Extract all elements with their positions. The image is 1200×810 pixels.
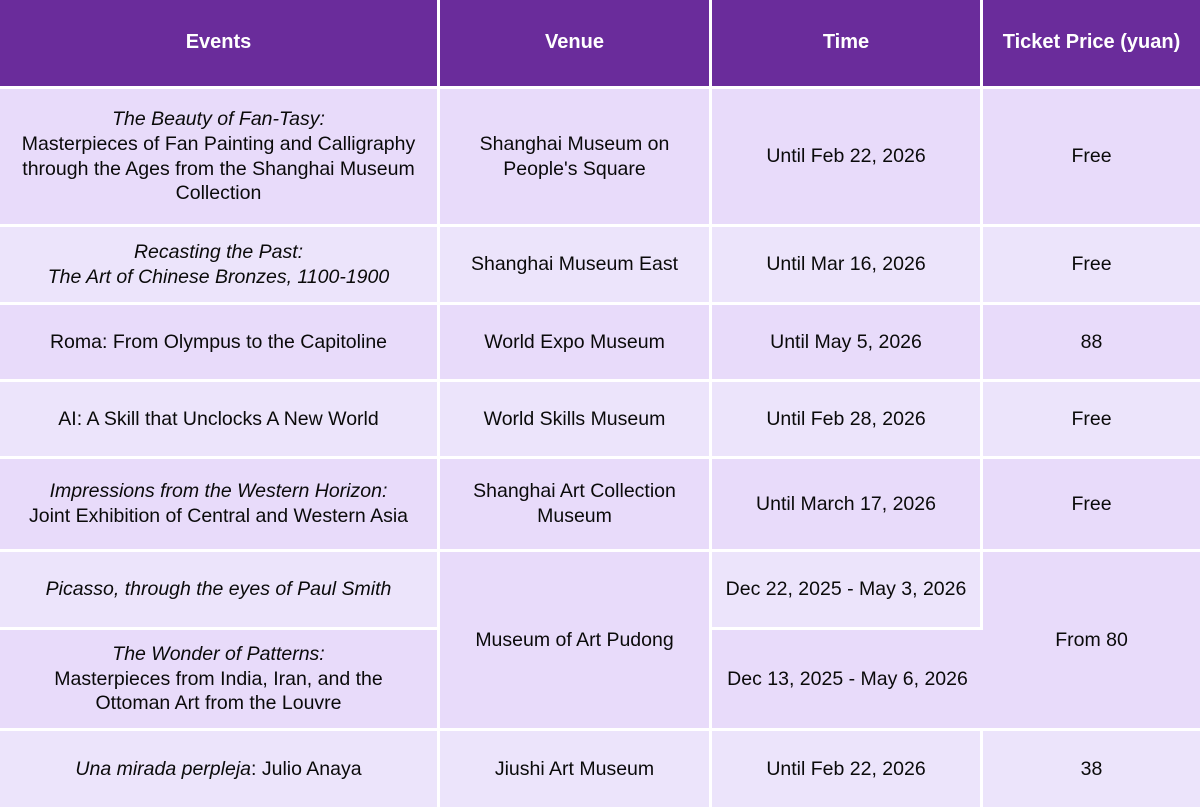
price-cell: 88 xyxy=(983,305,1200,382)
header-row: Events Venue Time Ticket Price (yuan) xyxy=(0,0,1200,89)
time-cell: Until May 5, 2026 xyxy=(712,305,983,382)
event-cell: The Beauty of Fan-Tasy: Masterpieces of … xyxy=(0,89,440,227)
venue-line: Shanghai Museum on xyxy=(450,132,699,157)
venue-cell: World Expo Museum xyxy=(440,305,712,382)
table-header: Events Venue Time Ticket Price (yuan) xyxy=(0,0,1200,89)
venue-line: Museum xyxy=(450,504,699,529)
column-header-time[interactable]: Time xyxy=(712,0,983,89)
price-cell: Free xyxy=(983,382,1200,459)
time-cell: Until Feb 28, 2026 xyxy=(712,382,983,459)
event-cell: Una mirada perpleja: Julio Anaya xyxy=(0,731,440,810)
venue-cell: Shanghai Museum East xyxy=(440,227,712,305)
price-cell: Free xyxy=(983,459,1200,552)
event-cell: Impressions from the Western Horizon: Jo… xyxy=(0,459,440,552)
event-title-line: Recasting the Past: xyxy=(10,240,427,265)
event-cell: Roma: From Olympus to the Capitoline xyxy=(0,305,440,382)
time-cell: Dec 22, 2025 - May 3, 2026 xyxy=(712,552,983,630)
table-body: The Beauty of Fan-Tasy: Masterpieces of … xyxy=(0,89,1200,810)
table-row: AI: A Skill that Unclocks A New World Wo… xyxy=(0,382,1200,459)
time-cell: Until Feb 22, 2026 xyxy=(712,89,983,227)
event-title-line: Impressions from the Western Horizon: xyxy=(10,479,427,504)
event-cell: Recasting the Past: The Art of Chinese B… xyxy=(0,227,440,305)
price-cell: Free xyxy=(983,227,1200,305)
table-row: Roma: From Olympus to the Capitoline Wor… xyxy=(0,305,1200,382)
event-title-line: The Beauty of Fan-Tasy: xyxy=(10,107,427,132)
venue-cell: Shanghai Art Collection Museum xyxy=(440,459,712,552)
event-subtitle-line: through the Ages from the Shanghai Museu… xyxy=(10,157,427,182)
event-cell: The Wonder of Patterns: Masterpieces fro… xyxy=(0,630,440,731)
price-cell: 38 xyxy=(983,731,1200,810)
price-cell-merged: From 80 xyxy=(983,552,1200,731)
table-row: Picasso, through the eyes of Paul Smith … xyxy=(0,552,1200,630)
time-cell: Until March 17, 2026 xyxy=(712,459,983,552)
column-header-events[interactable]: Events xyxy=(0,0,440,89)
venue-line: Shanghai Art Collection xyxy=(450,479,699,504)
event-subtitle-line: The Art of Chinese Bronzes, 1100-1900 xyxy=(10,265,427,290)
event-subtitle-line: Joint Exhibition of Central and Western … xyxy=(10,504,427,529)
time-cell: Until Mar 16, 2026 xyxy=(712,227,983,305)
event-title-line: Picasso, through the eyes of Paul Smith xyxy=(10,577,427,602)
event-subtitle-line: Ottoman Art from the Louvre xyxy=(10,691,427,716)
table-row: Recasting the Past: The Art of Chinese B… xyxy=(0,227,1200,305)
table-row: The Beauty of Fan-Tasy: Masterpieces of … xyxy=(0,89,1200,227)
table-row: Una mirada perpleja: Julio Anaya Jiushi … xyxy=(0,731,1200,810)
time-cell: Until Feb 22, 2026 xyxy=(712,731,983,810)
time-cell: Dec 13, 2025 - May 6, 2026 xyxy=(712,630,983,731)
venue-cell: Shanghai Museum on People's Square xyxy=(440,89,712,227)
event-title-line: The Wonder of Patterns: xyxy=(10,642,427,667)
table-row: Impressions from the Western Horizon: Jo… xyxy=(0,459,1200,552)
event-cell: AI: A Skill that Unclocks A New World xyxy=(0,382,440,459)
event-title-italic: Una mirada perpleja xyxy=(75,758,251,780)
venue-cell: World Skills Museum xyxy=(440,382,712,459)
event-cell: Picasso, through the eyes of Paul Smith xyxy=(0,552,440,630)
column-header-ticket-price[interactable]: Ticket Price (yuan) xyxy=(983,0,1200,89)
exhibitions-table: Events Venue Time Ticket Price (yuan) Th… xyxy=(0,0,1200,810)
column-header-venue[interactable]: Venue xyxy=(440,0,712,89)
venue-cell: Jiushi Art Museum xyxy=(440,731,712,810)
price-cell: Free xyxy=(983,89,1200,227)
event-subtitle-line: Collection xyxy=(10,181,427,206)
event-subtitle-line: Masterpieces of Fan Painting and Calligr… xyxy=(10,132,427,157)
event-subtitle-line: Masterpieces from India, Iran, and the xyxy=(10,667,427,692)
venue-line: People's Square xyxy=(450,157,699,182)
venue-cell-merged: Museum of Art Pudong xyxy=(440,552,712,731)
event-title-rest: : Julio Anaya xyxy=(251,758,362,780)
